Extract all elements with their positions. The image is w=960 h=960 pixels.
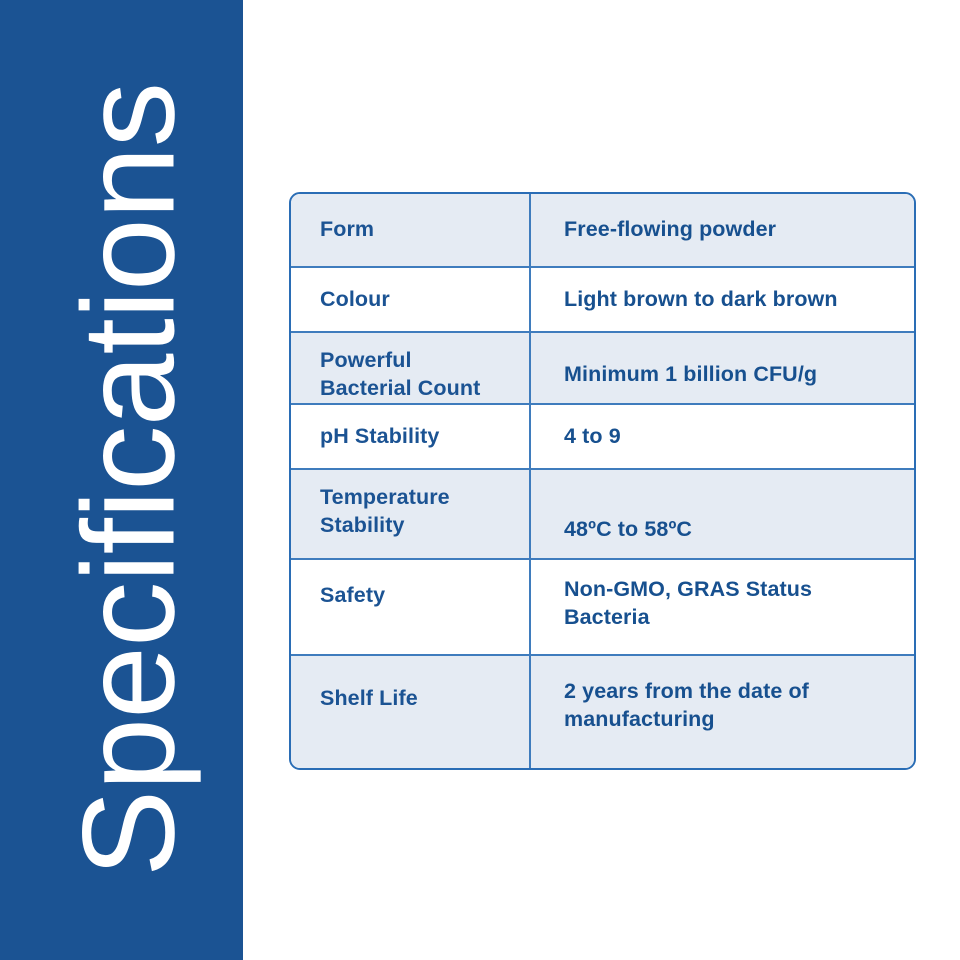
spec-value-cell: 4 to 9 — [531, 405, 914, 468]
spec-value-text: 2 years from the date ofmanufacturing — [564, 678, 809, 734]
spec-value-cell: Non-GMO, GRAS StatusBacteria — [531, 560, 914, 654]
spec-label-text: Safety — [320, 582, 385, 610]
spec-value-cell: Light brown to dark brown — [531, 268, 914, 331]
spec-value-cell: 48ºC to 58ºC — [531, 470, 914, 558]
spec-label-text: Colour — [320, 286, 390, 314]
spec-label-text: pH Stability — [320, 423, 439, 451]
spec-label-text: TemperatureStability — [320, 484, 450, 539]
specifications-table: Form Free-flowing powder Colour Light br… — [289, 192, 916, 770]
table-row: Shelf Life 2 years from the date ofmanuf… — [291, 656, 914, 770]
table-row: Safety Non-GMO, GRAS StatusBacteria — [291, 560, 914, 656]
table-row: Form Free-flowing powder — [291, 194, 914, 268]
spec-value-text: Light brown to dark brown — [564, 286, 838, 314]
spec-value-text: Minimum 1 billion CFU/g — [564, 361, 817, 389]
spec-label-text: Shelf Life — [320, 685, 418, 713]
table-row: TemperatureStability 48ºC to 58ºC — [291, 470, 914, 560]
spec-value-cell: 2 years from the date ofmanufacturing — [531, 656, 914, 770]
spec-label-cell: pH Stability — [291, 405, 531, 468]
spec-value-text: Free-flowing powder — [564, 216, 776, 244]
spec-value-cell: Free-flowing powder — [531, 194, 914, 266]
table-row: pH Stability 4 to 9 — [291, 405, 914, 470]
spec-value-text: 48ºC to 58ºC — [564, 516, 692, 544]
spec-label-text: Form — [320, 216, 374, 244]
spec-label-cell: Safety — [291, 560, 531, 654]
table-row: Colour Light brown to dark brown — [291, 268, 914, 333]
table-row: PowerfulBacterial Count Minimum 1 billio… — [291, 333, 914, 405]
spec-value-text: 4 to 9 — [564, 423, 621, 451]
spec-value-cell: Minimum 1 billion CFU/g — [531, 333, 914, 403]
spec-label-cell: Form — [291, 194, 531, 266]
spec-label-cell: TemperatureStability — [291, 470, 531, 558]
specifications-page: Specifications Form Free-flowing powder … — [0, 0, 960, 960]
spec-label-cell: PowerfulBacterial Count — [291, 333, 531, 403]
spec-label-text: PowerfulBacterial Count — [320, 347, 480, 402]
spec-value-text: Non-GMO, GRAS StatusBacteria — [564, 576, 812, 632]
page-title: Specifications — [62, 83, 193, 877]
spec-label-cell: Shelf Life — [291, 656, 531, 770]
spec-label-cell: Colour — [291, 268, 531, 331]
sidebar-band: Specifications — [0, 0, 243, 960]
